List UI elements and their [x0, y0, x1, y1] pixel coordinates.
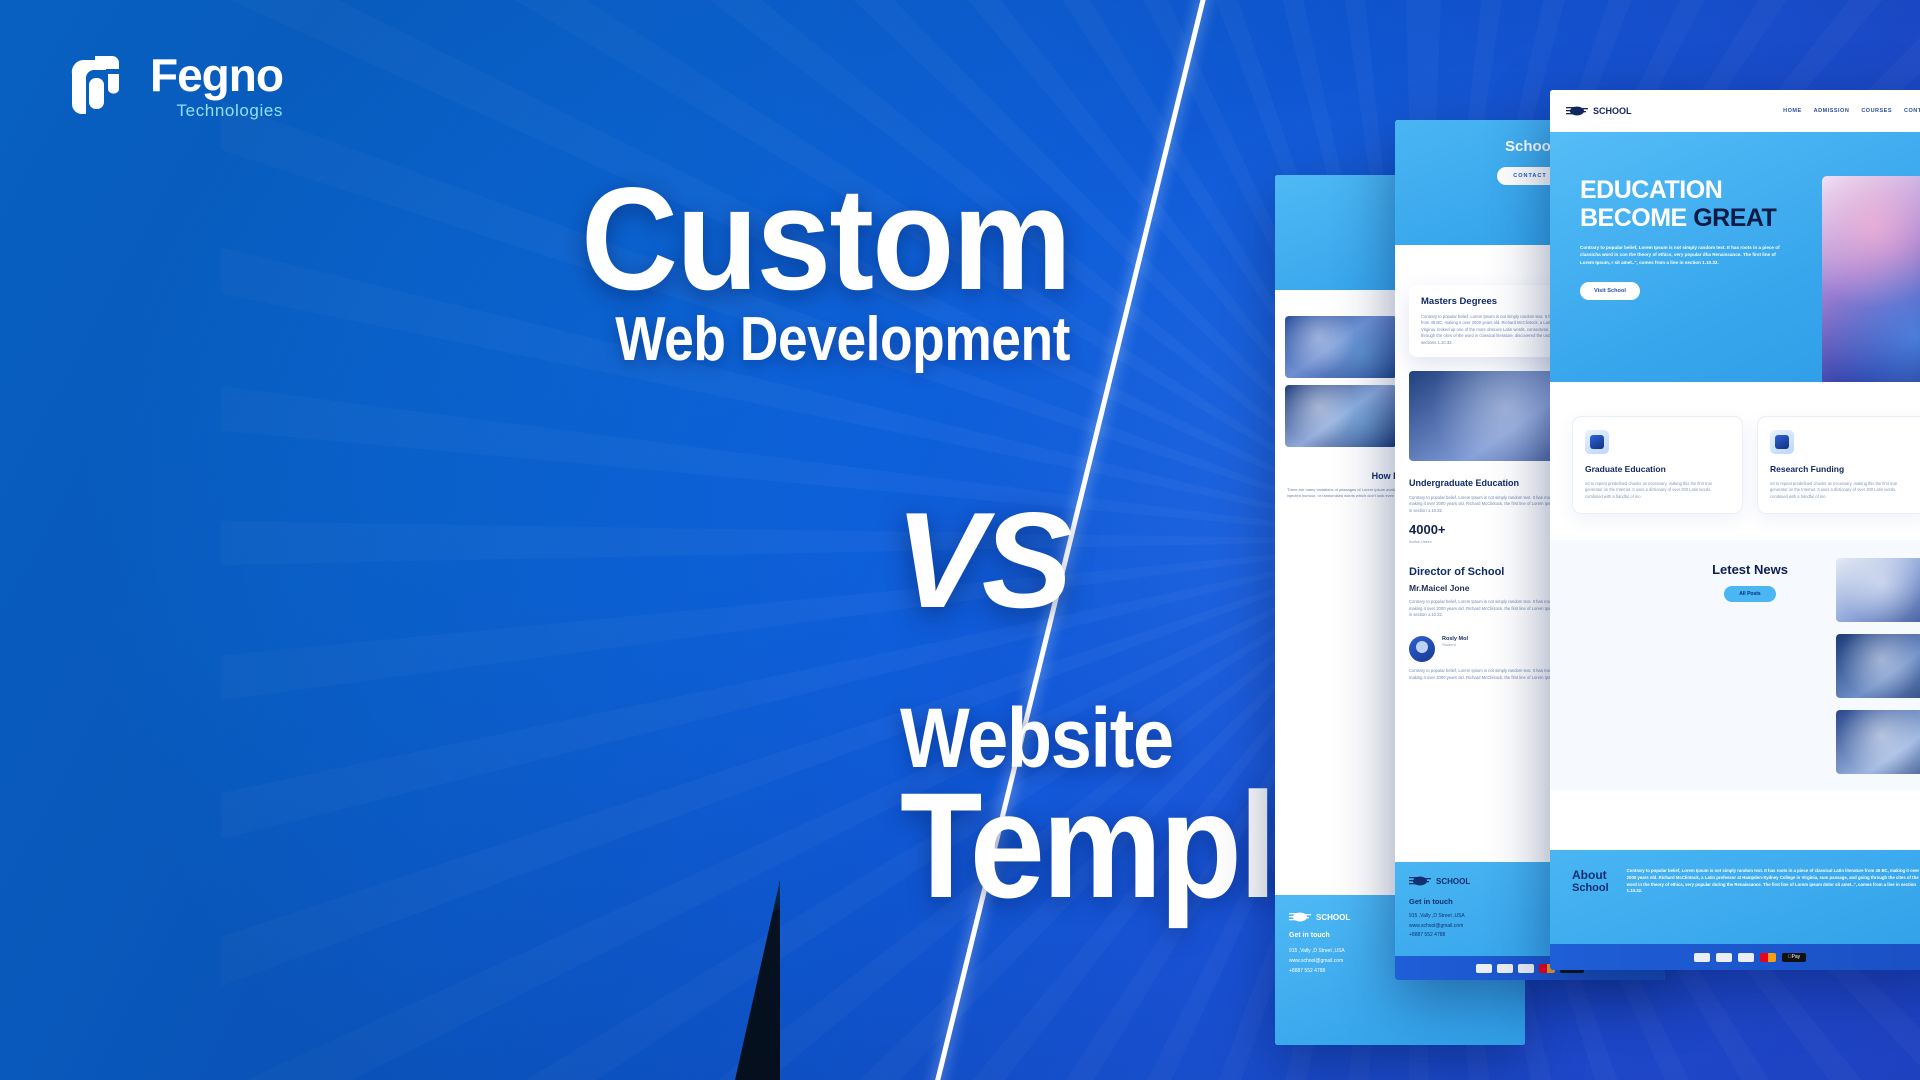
- gallery-photo: [1285, 316, 1397, 378]
- footer-heading: About: [1572, 868, 1609, 882]
- brand-name: Fegno: [150, 52, 283, 98]
- feature-card[interactable]: Graduate Education nd to repeat predefin…: [1572, 416, 1743, 514]
- news-thumbnail[interactable]: [1836, 634, 1920, 698]
- hero-image: [1822, 176, 1920, 382]
- school-logo-icon: [1289, 911, 1311, 924]
- apple-pay-icon: Pay: [1782, 953, 1806, 962]
- feature-cards: Graduate Education nd to repeat predefin…: [1550, 382, 1920, 540]
- amex-icon: [1497, 964, 1513, 973]
- visa-icon: [1738, 953, 1754, 962]
- avatar: [1409, 636, 1435, 662]
- nav-link-courses[interactable]: COURSES: [1861, 108, 1892, 114]
- visa-icon: [1518, 964, 1534, 973]
- school-logo-icon: [1409, 875, 1431, 888]
- feature-card-title: Research Funding: [1770, 464, 1915, 474]
- footer-brand: SCHOOL: [1316, 913, 1350, 922]
- feature-card-title: Graduate Education: [1585, 464, 1730, 474]
- footer-brand: SCHOOL: [1436, 877, 1470, 886]
- brand-tagline: Technologies: [177, 102, 283, 119]
- all-posts-button[interactable]: All Posts: [1724, 586, 1776, 602]
- feature-card-text: nd to repeat predefined chunks as necess…: [1585, 481, 1730, 500]
- versus-label: VS: [895, 492, 1068, 628]
- school-logo-icon: [1566, 105, 1588, 118]
- mockup-front[interactable]: SCHOOL HOME ADMISSION COURSES CONTACT ED…: [1550, 90, 1920, 970]
- mockup-front-hero: EDUCATION BECOME GREAT Contrary to popul…: [1550, 132, 1920, 382]
- mockup-front-navbar: SCHOOL HOME ADMISSION COURSES CONTACT: [1550, 90, 1920, 132]
- hero-paragraph: Contrary to popular belief, Lorem Ipsum …: [1580, 244, 1780, 266]
- payment-methods-bar: Pay: [1550, 944, 1920, 970]
- amazon-pay-icon: [1476, 964, 1492, 973]
- visit-school-button[interactable]: Visit School: [1580, 282, 1640, 300]
- nav-brand-label: SCHOOL: [1593, 106, 1632, 116]
- hero-title-line2-light: BECOME: [1580, 204, 1687, 232]
- feature-card[interactable]: Research Funding nd to repeat predefined…: [1757, 416, 1920, 514]
- hero-title-line2-dark: GREAT: [1693, 204, 1776, 232]
- nav-link-admission[interactable]: ADMISSION: [1814, 108, 1850, 114]
- amazon-pay-icon: [1694, 953, 1710, 962]
- mastercard-icon: [1760, 953, 1776, 962]
- news-thumbnail[interactable]: [1836, 558, 1920, 622]
- research-flask-icon: [1770, 430, 1794, 454]
- headline-left: Custom Web Development: [530, 175, 1070, 371]
- headline-web-development: Web Development: [606, 309, 1070, 371]
- nav-link-home[interactable]: HOME: [1783, 108, 1802, 114]
- headline-custom: Custom: [573, 175, 1070, 303]
- feature-card-text: nd to repeat predefined chunks as necess…: [1770, 481, 1915, 500]
- news-thumbnails: [1836, 558, 1920, 786]
- gallery-photo: [1285, 385, 1397, 447]
- footer-subheading: School: [1572, 882, 1609, 894]
- graduate-cap-icon: [1585, 430, 1609, 454]
- nav-link-contact[interactable]: CONTACT: [1904, 108, 1920, 114]
- brand-logo[interactable]: Fegno Technologies: [62, 48, 283, 122]
- news-thumbnail[interactable]: [1836, 710, 1920, 774]
- amex-icon: [1716, 953, 1732, 962]
- latest-news-section: Letest News All Posts: [1550, 540, 1920, 790]
- fegno-cube-logo-icon: [62, 48, 136, 122]
- mockup-front-footer: About School Contrary to popular belief,…: [1550, 850, 1920, 970]
- website-mockup-stack: We best make choose plan $800 Per Year 2…: [1275, 90, 1920, 990]
- footer-text: Contrary to popular belief, Lorem Ipsum …: [1627, 868, 1920, 952]
- testimonial-role: Student: [1442, 642, 1468, 647]
